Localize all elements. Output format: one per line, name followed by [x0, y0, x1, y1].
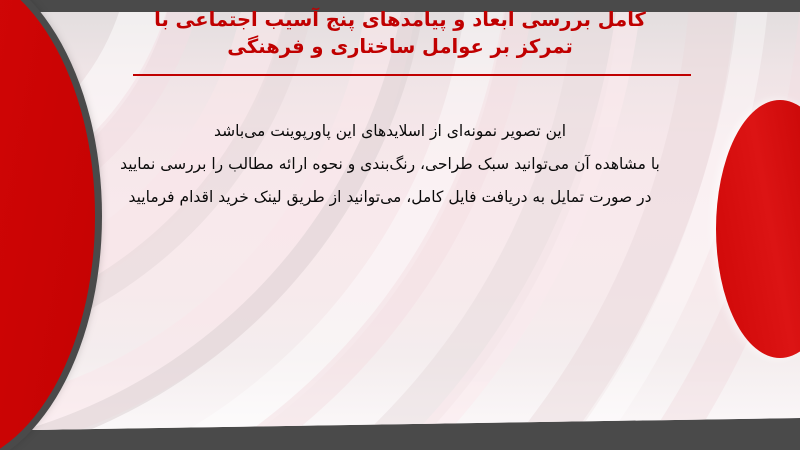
slide-canvas: کامل بررسی ابعاد و پیامدهای پنج آسیب اجت… — [0, 0, 800, 450]
body-line-1: این تصویر نمونه‌ای از اسلایدهای این پاور… — [60, 115, 720, 148]
body-line-3: در صورت تمایل به دریافت فایل کامل، می‌تو… — [60, 181, 720, 214]
title-underline-rule — [133, 74, 691, 76]
title-line-2: تمرکز بر عوامل ساختاری و فرهنگی — [100, 33, 700, 60]
title-line-1: کامل بررسی ابعاد و پیامدهای پنج آسیب اجت… — [100, 6, 700, 33]
slide-body: این تصویر نمونه‌ای از اسلایدهای این پاور… — [60, 115, 720, 214]
slide-title: کامل بررسی ابعاد و پیامدهای پنج آسیب اجت… — [100, 6, 700, 60]
body-line-2: با مشاهده آن می‌توانید سبک طراحی، رنگ‌بن… — [60, 148, 720, 181]
slide-content: کامل بررسی ابعاد و پیامدهای پنج آسیب اجت… — [0, 0, 800, 450]
